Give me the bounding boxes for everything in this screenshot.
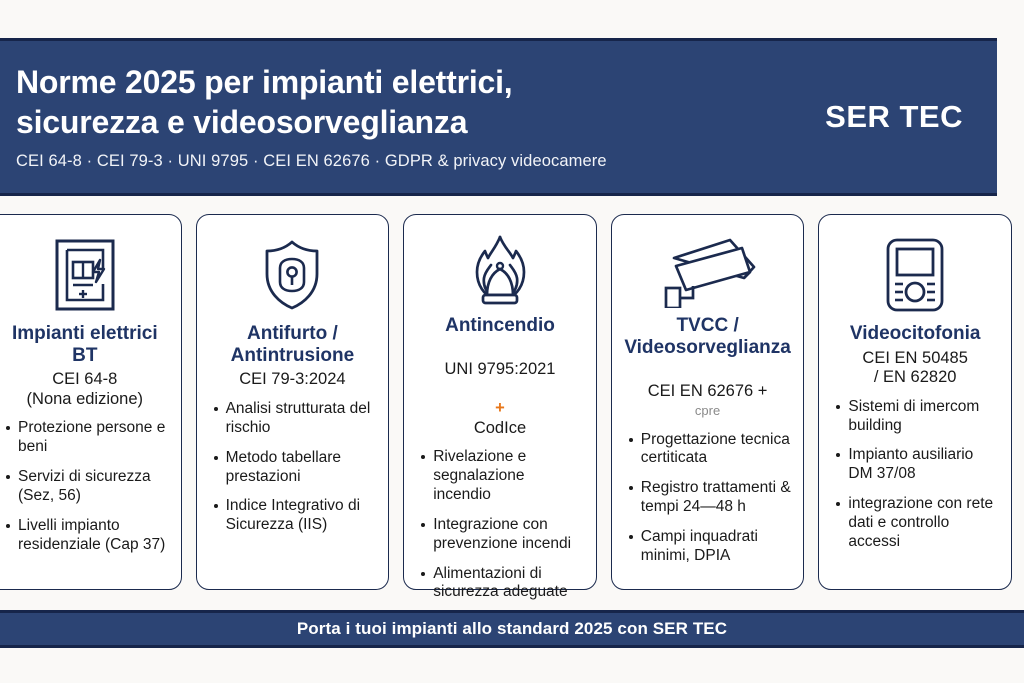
standard-suffix: cpre — [695, 403, 720, 418]
card-standard-reference: CEI EN 62676 + cpre — [648, 362, 768, 420]
electrical-panel-icon — [54, 233, 116, 317]
card-title: TVCC / Videosorveglianza — [624, 315, 791, 358]
card-bullet-list: Rivelazione e segnalazione incendio Inte… — [414, 448, 586, 613]
footer-cta-bar: Porta i tuoi impianti allo standard 2025… — [0, 610, 1024, 648]
list-item: Analisi strutturata del rischio — [213, 400, 379, 438]
card-bullet-list: Sistemi di imercom building Impianto aus… — [829, 398, 1001, 563]
list-item: Indice Integrativo di Sicurezza (IIS) — [213, 497, 379, 535]
standard-line-1: UNI 9795:2021 — [444, 360, 555, 378]
card-videocitofonia[interactable]: Videocitofonia CEI EN 50485 / EN 62820 S… — [818, 214, 1012, 590]
shield-lock-icon — [259, 233, 325, 317]
list-item: Alimentazioni di sicurezza adeguate — [420, 565, 586, 603]
list-item: Rivelazione e segnalazione incendio — [420, 448, 586, 505]
card-bullet-list: Protezione persone e beni Servizi di sic… — [0, 419, 171, 565]
plus-accent-symbol: + — [495, 399, 505, 417]
footer-cta-text: Porta i tuoi impianti allo standard 2025… — [297, 619, 727, 639]
card-tvcc-videosorveglianza[interactable]: TVCC / Videosorveglianza CEI EN 62676 + … — [611, 214, 805, 590]
list-item: Impianto ausiliario DM 37/08 — [835, 446, 1001, 484]
list-item: Sistemi di imercom building — [835, 398, 1001, 436]
list-item: Protezione persone e beni — [5, 419, 171, 457]
card-title: Impianti elettrici BT — [12, 323, 158, 366]
card-title: Antincendio — [445, 315, 555, 337]
list-item: Campi inquadrati minimi, DPIA — [628, 528, 794, 566]
card-antifurto-antintrusione[interactable]: Antifurto / Antintrusione CEI 79-3:2024 … — [196, 214, 390, 590]
list-item: Livelli impianto residenziale (Cap 37) — [5, 517, 171, 555]
video-intercom-icon — [884, 233, 946, 317]
card-title: Antifurto / Antintrusione — [231, 323, 355, 366]
card-bullet-list: Analisi strutturata del rischio Metodo t… — [207, 400, 379, 546]
card-standard-reference: CEI 79-3:2024 — [239, 370, 345, 389]
cards-row: Impianti elettrici BT CEI 64-8 (Nona edi… — [0, 214, 1012, 590]
list-item: Integrazione con prevenzione incendi — [420, 516, 586, 554]
card-title: Videocitofonia — [850, 323, 981, 345]
header-banner: Norme 2025 per impianti elettrici, sicur… — [0, 38, 997, 196]
card-antincendio[interactable]: Antincendio UNI 9795:2021 + CodIce Rivel… — [403, 214, 597, 590]
flame-alarm-icon — [464, 233, 536, 309]
list-item: integrazione con rete dati e controllo a… — [835, 495, 1001, 552]
standard-main: CEI EN 62676 + — [648, 382, 768, 400]
header-text-group: Norme 2025 per impianti elettrici, sicur… — [16, 63, 607, 170]
card-bullet-list: Progettazione tecnica certiticata Regist… — [622, 431, 794, 577]
list-item: Registro trattamenti & tempi 24—48 h — [628, 479, 794, 517]
cctv-camera-icon — [656, 233, 760, 309]
card-standard-reference: UNI 9795:2021 + CodIce — [444, 341, 555, 438]
page-title: Norme 2025 per impianti elettrici, sicur… — [16, 63, 607, 141]
brand-logo: SER TEC — [825, 99, 969, 135]
card-standard-reference: CEI EN 50485 / EN 62820 — [862, 349, 967, 388]
list-item: Servizi di sicurezza (Sez, 56) — [5, 468, 171, 506]
standard-line-2: CodIce — [474, 419, 526, 437]
header-standards-list: CEI 64-8 · CEI 79-3 · UNI 9795 · CEI EN … — [16, 152, 607, 171]
card-impianti-elettrici[interactable]: Impianti elettrici BT CEI 64-8 (Nona edi… — [0, 214, 182, 590]
list-item: Progettazione tecnica certiticata — [628, 431, 794, 469]
card-standard-reference: CEI 64-8 (Nona edizione) — [27, 370, 143, 409]
list-item: Metodo tabellare prestazioni — [213, 449, 379, 487]
